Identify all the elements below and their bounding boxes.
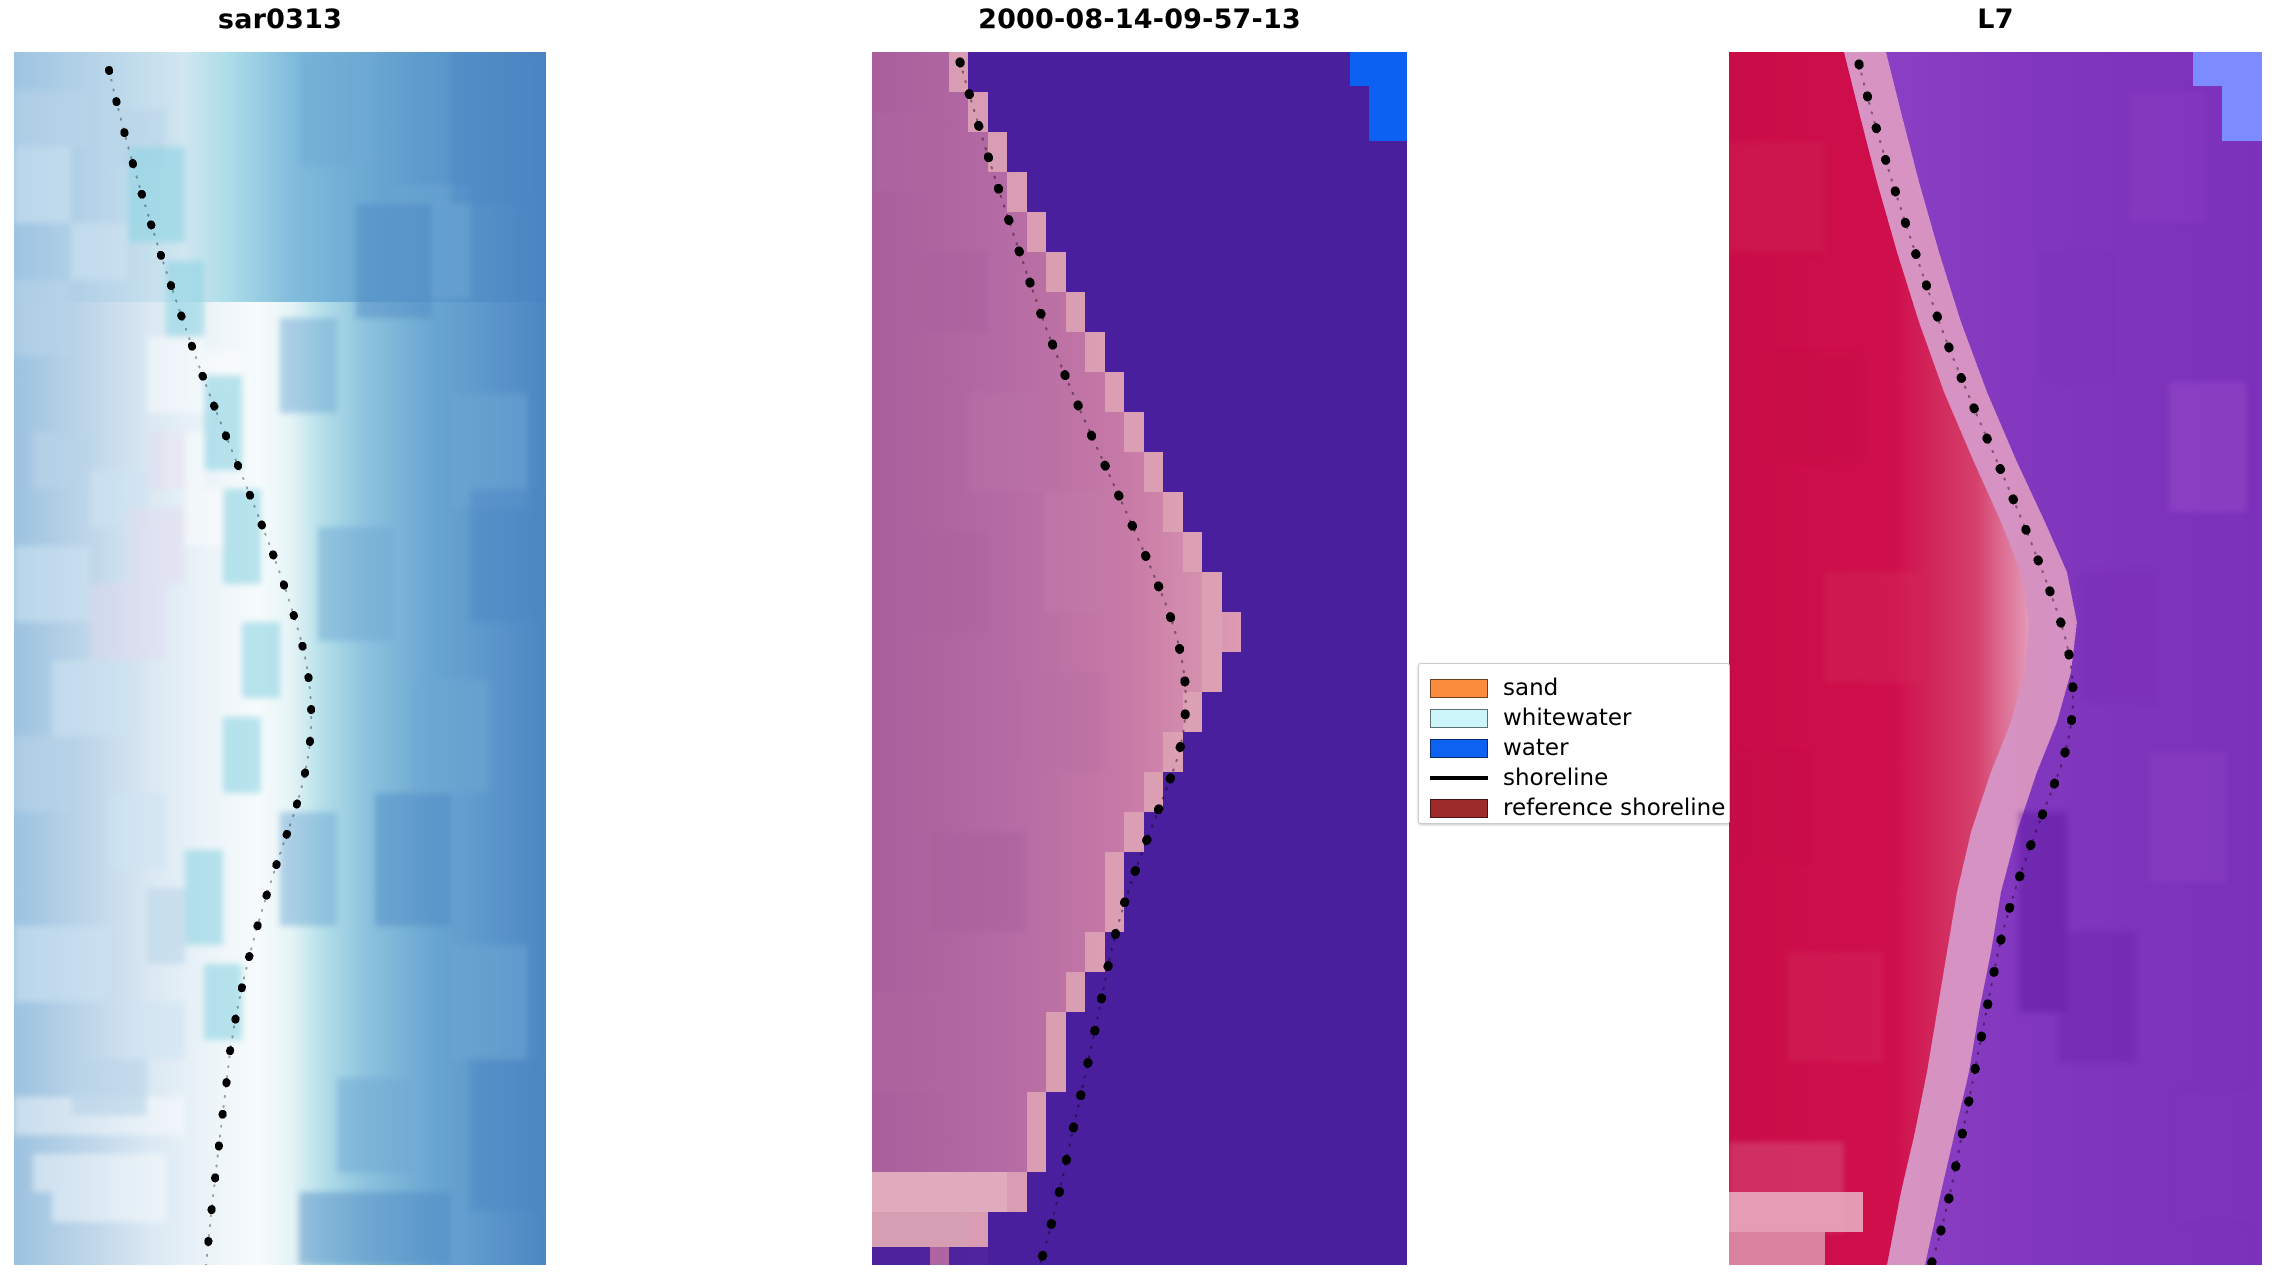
panel-title-sar: sar0313 xyxy=(14,4,546,35)
legend-swatch-whitewater xyxy=(1430,709,1488,728)
legend-label-whitewater: whitewater xyxy=(1503,707,1631,730)
sar-raster xyxy=(14,52,546,1265)
legend-label-reference-shoreline-buffer: reference shoreline buff xyxy=(1503,797,1730,820)
panel-title-l7: L7 xyxy=(1729,4,2262,35)
l7-raster xyxy=(1729,52,2262,1265)
legend-item-sand: sand xyxy=(1430,673,1719,703)
classified-raster xyxy=(872,52,1407,1265)
panel-l7-image xyxy=(1729,52,2262,1265)
legend-item-whitewater: whitewater xyxy=(1430,703,1719,733)
panel-classified-image xyxy=(872,52,1407,1265)
legend-label-water: water xyxy=(1503,737,1569,760)
legend-swatch-reference-shoreline-buffer xyxy=(1430,799,1488,818)
legend-item-reference-shoreline-buffer: reference shoreline buff xyxy=(1430,793,1719,823)
legend-swatch-shoreline xyxy=(1430,769,1488,788)
legend-item-water: water xyxy=(1430,733,1719,763)
legend: sand whitewater water shoreline referenc… xyxy=(1418,663,1730,824)
legend-label-sand: sand xyxy=(1503,677,1558,700)
figure-canvas: sar0313 xyxy=(0,0,2276,1283)
legend-swatch-sand xyxy=(1430,679,1488,698)
panel-title-date: 2000-08-14-09-57-13 xyxy=(872,4,1407,35)
panel-sar-image xyxy=(14,52,546,1265)
legend-label-shoreline: shoreline xyxy=(1503,767,1608,790)
legend-swatch-water xyxy=(1430,739,1488,758)
legend-item-shoreline: shoreline xyxy=(1430,763,1719,793)
